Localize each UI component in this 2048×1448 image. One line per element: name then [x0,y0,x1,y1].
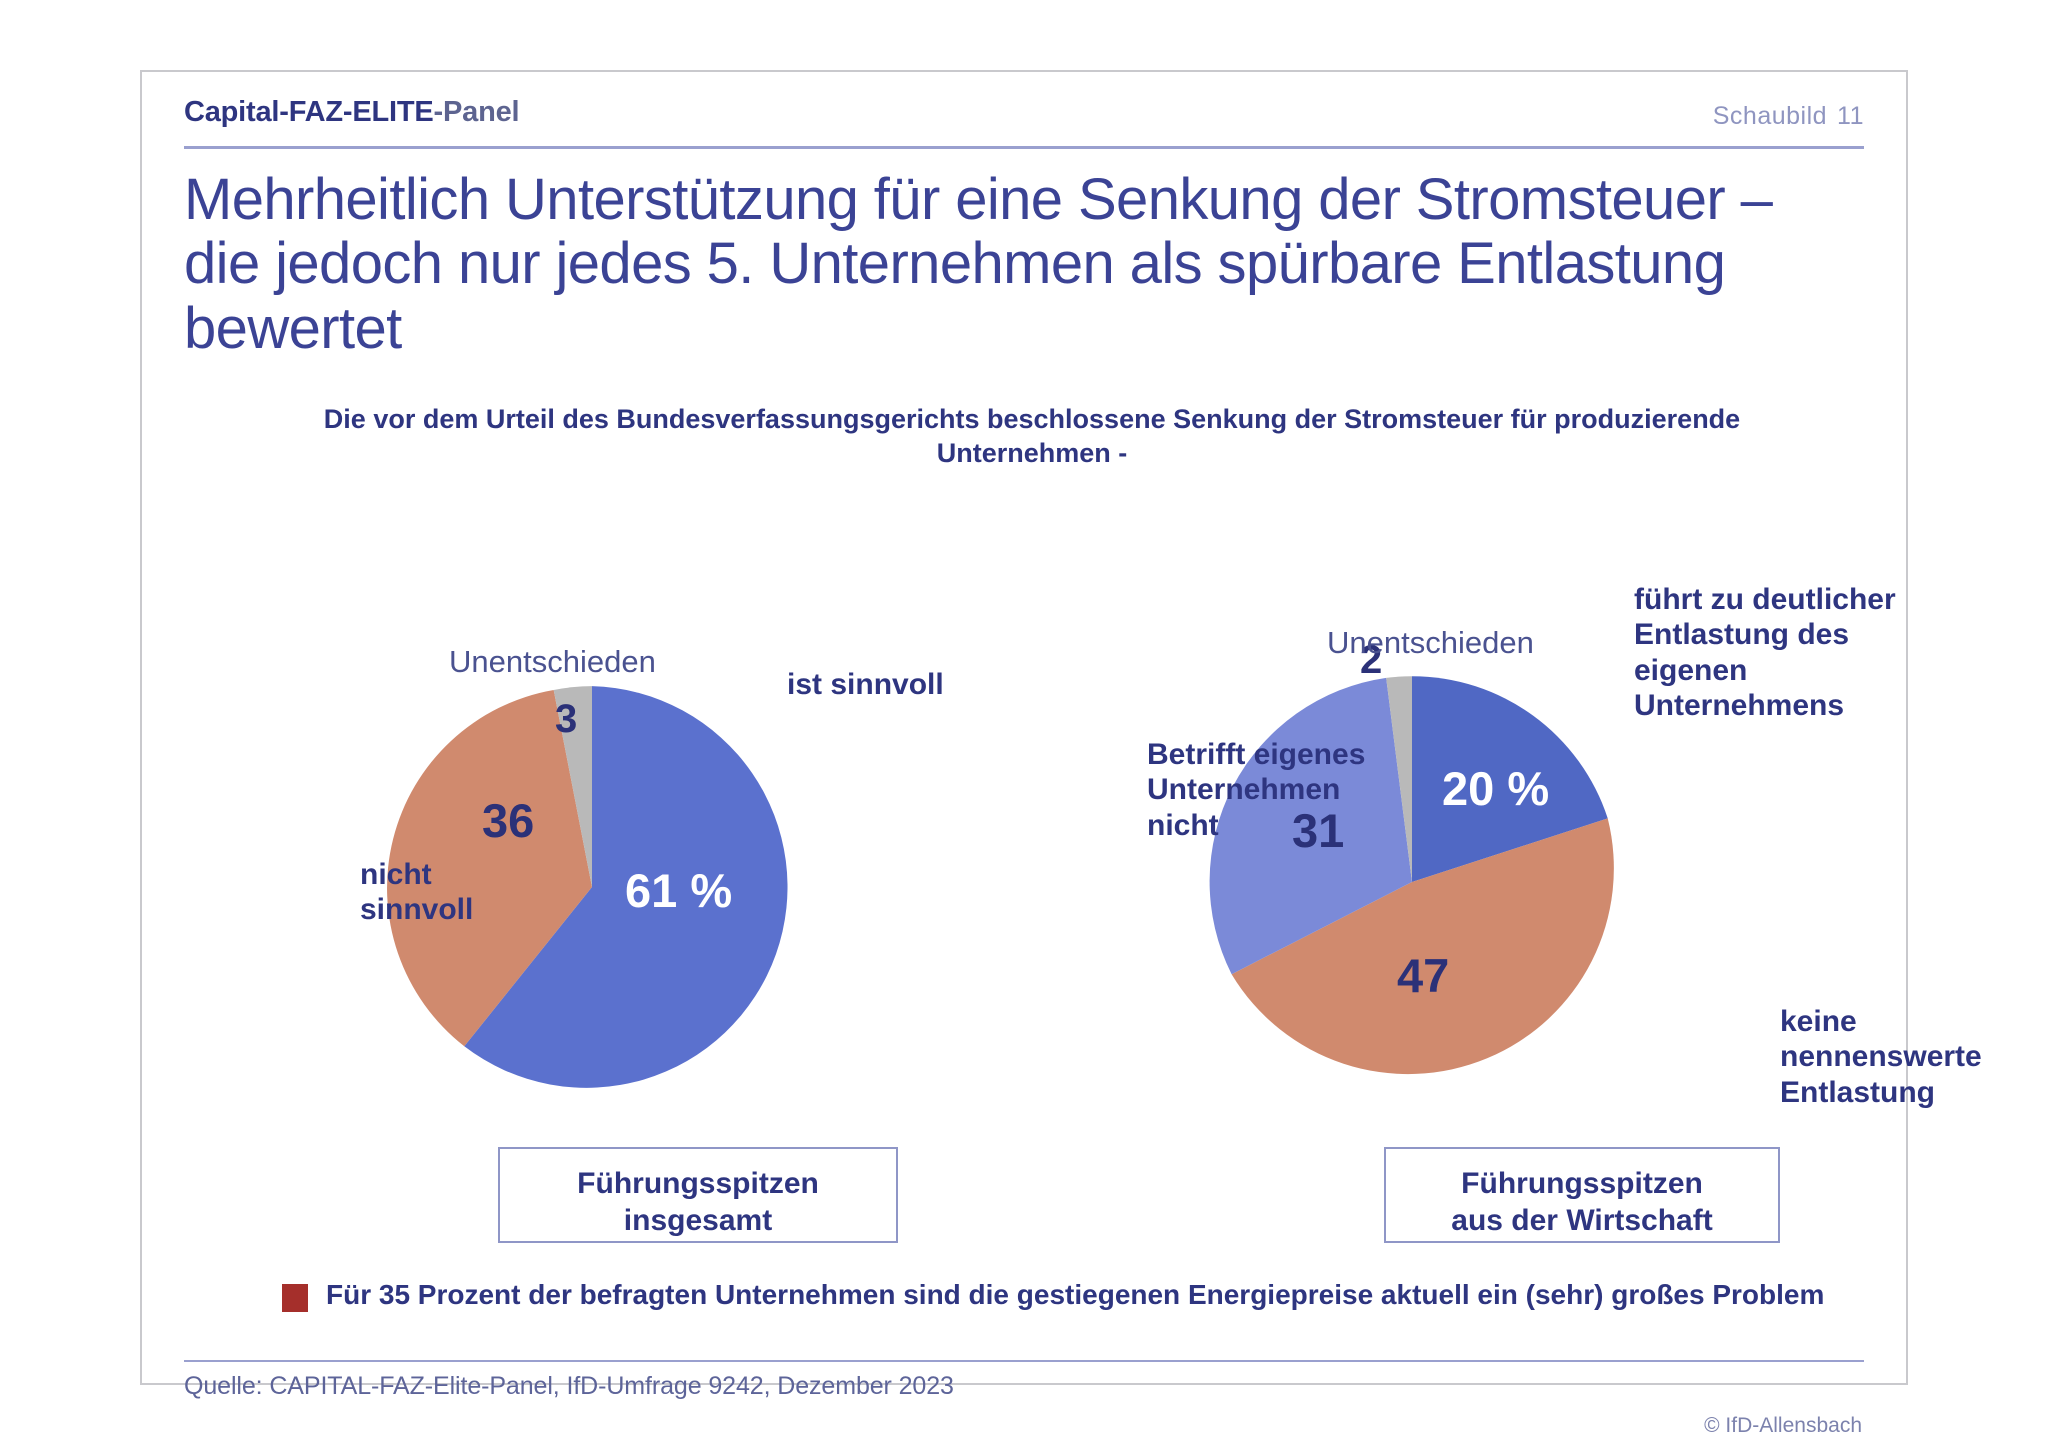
pie-right-svg [1202,672,1622,1092]
caption-box-right: Führungsspitzen aus der Wirtschaft [1384,1147,1780,1243]
footer-divider [184,1360,1864,1362]
pie-left-value-nicht-sinnvoll: 36 [482,797,534,844]
pie-left-label-unentschieden: Unentschieden [449,644,656,681]
caption-box-left: Führungsspitzen insgesamt [498,1147,898,1243]
pie-right-label-entlastung: führt zu deutlicher Entlastung des eigen… [1634,582,1906,724]
footnote-text: Für 35 Prozent der befragten Unternehmen… [326,1277,1856,1313]
pie-right-label-betrifft-nicht: Betrifft eigenes Unternehmen nicht [1147,737,1365,843]
pie-left-value-unentschieden: 3 [555,699,577,739]
source-text: Quelle: CAPITAL-FAZ-Elite-Panel, IfD-Umf… [184,1372,954,1401]
slide-frame: Capital-FAZ-ELITE-Panel Schaubild11 Mehr… [140,70,1908,1385]
footnote-marker-icon [282,1284,308,1312]
pie-left-label-sinnvoll: ist sinnvoll [787,667,944,702]
pie-right-value-keine-entlastung: 47 [1397,952,1449,999]
copyright-text: © IfD-Allensbach [1704,1414,1862,1438]
pie-right-value-entlastung: 20 % [1442,765,1549,812]
pie-chart-right: 20 % 47 31 2 [1202,672,1622,1092]
pie-right-label-keine-entlastung: keine nennenswerte Entlastung [1780,1004,1982,1110]
pie-left-value-sinnvoll: 61 % [625,867,732,914]
pie-left-label-nicht-sinnvoll: nicht sinnvoll [360,857,473,928]
pie-right-label-unentschieden: Unentschieden [1327,625,1534,662]
